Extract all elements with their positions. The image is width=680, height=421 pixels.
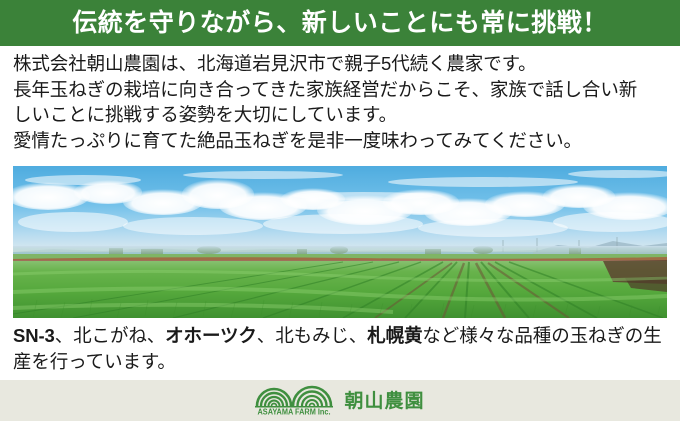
intro-line-4: 愛情たっぷりに育てた絶品玉ねぎを是非一度味わってみてください。: [13, 128, 671, 154]
intro-line-3: しいことに挑戦する姿勢を大切にしています。: [13, 102, 671, 128]
intro-paragraph: 株式会社朝山農園は、北海道岩見沢市で親子5代続く農家です。 長年玉ねぎの栽培に向…: [13, 51, 671, 153]
onion-field-photo: [13, 166, 667, 318]
footer-bar: ASAYAMA FARM Inc. 朝山農園: [0, 380, 680, 421]
variety-paragraph: SN-3、北こがね、オホーツク、北もみじ、札幌黄など様々な品種の玉ねぎの生 産を…: [13, 323, 673, 374]
logo-japanese-text: 朝山農園: [344, 386, 424, 413]
variety-line-2: 産を行っています。: [13, 349, 673, 375]
logo-english-text: ASAYAMA FARM Inc.: [258, 407, 331, 415]
variety-name: 札幌黄: [367, 325, 422, 346]
intro-line-2: 長年玉ねぎの栽培に向き合ってきた家族経営だからこそ、家族で話し合い新: [13, 77, 671, 103]
header-banner: 伝統を守りながら、新しいことにも常に挑戦！: [0, 0, 680, 46]
variety-name: SN-3: [13, 325, 55, 346]
banner-title: 伝統を守りながら、新しいことにも常に挑戦！: [72, 11, 608, 36]
brand-logo: ASAYAMA FARM Inc. 朝山農園: [255, 385, 424, 415]
asayama-farm-logo-mark: ASAYAMA FARM Inc.: [255, 385, 333, 415]
variety-text: など様々な品種の玉ねぎの生: [422, 325, 661, 346]
variety-text: 、北もみじ、: [257, 325, 367, 346]
variety-text: 産を行っています。: [13, 351, 176, 372]
variety-name: オホーツク: [165, 325, 257, 346]
variety-line-1: SN-3、北こがね、オホーツク、北もみじ、札幌黄など様々な品種の玉ねぎの生: [13, 323, 673, 349]
intro-line-1: 株式会社朝山農園は、北海道岩見沢市で親子5代続く農家です。: [13, 51, 671, 77]
variety-text: 、北こがね、: [55, 325, 165, 346]
farm-profile-page: 伝統を守りながら、新しいことにも常に挑戦！ 株式会社朝山農園は、北海道岩見沢市で…: [0, 0, 680, 421]
onion-field-illustration: [13, 166, 667, 318]
double-arch-icon: ASAYAMA FARM Inc.: [255, 385, 333, 415]
